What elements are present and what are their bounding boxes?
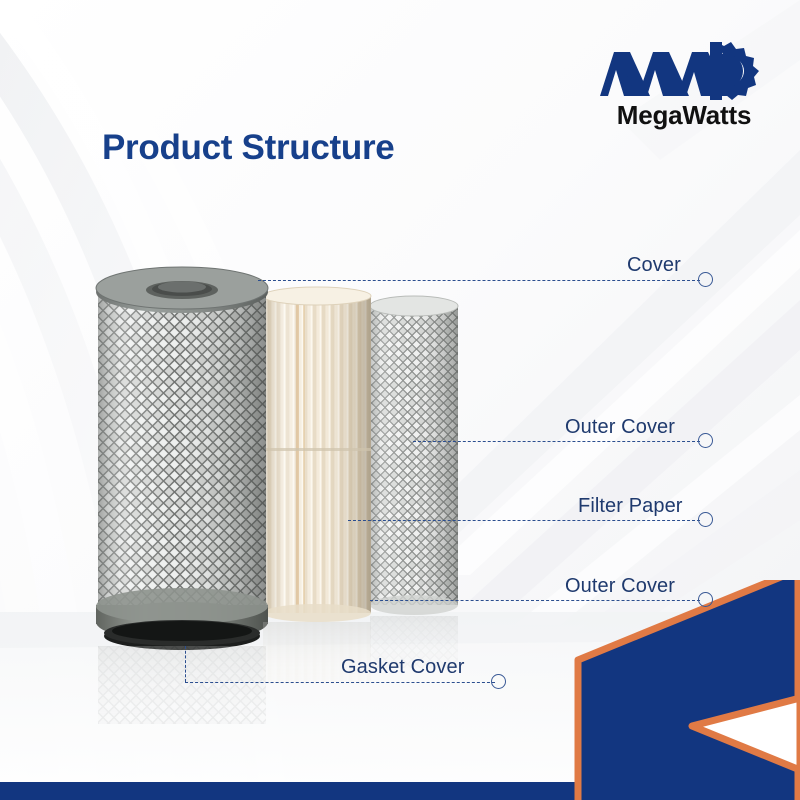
chevron-arrow-badge-icon: [540, 580, 800, 800]
brand-logo[interactable]: MegaWatts: [598, 36, 770, 144]
callout-filter-paper-label: Filter Paper: [578, 495, 683, 518]
callout-outer-cover-lower-label: Outer Cover: [565, 575, 675, 598]
slide-canvas: MegaWatts Product Structure: [0, 0, 800, 800]
callout-filter-paper-endpoint-circle: [698, 512, 713, 527]
callout-cover-endpoint-circle: [698, 272, 713, 287]
callout-outer-cover-lower-leader-line: [370, 600, 700, 601]
callout-cover-leader-line: [258, 280, 700, 281]
callout-cover-label: Cover: [627, 254, 681, 277]
callout-gasket-cover-leader-vertical: [185, 646, 186, 682]
callout-filter-paper-leader-line: [348, 520, 700, 521]
megawatts-mw-gear-logo-icon: [598, 36, 770, 104]
callout-outer-cover-upper-leader-line: [413, 441, 700, 442]
brand-name: MegaWatts: [598, 100, 770, 131]
callout-outer-cover-lower-endpoint-circle: [698, 592, 713, 607]
callout-gasket-cover-leader-line: [185, 682, 495, 683]
callout-gasket-cover-label: Gasket Cover: [341, 656, 464, 679]
callout-gasket-cover-endpoint-circle: [491, 674, 506, 689]
page-title: Product Structure: [102, 128, 394, 168]
callout-outer-cover-upper-endpoint-circle: [698, 433, 713, 448]
callout-outer-cover-upper-label: Outer Cover: [565, 416, 675, 439]
